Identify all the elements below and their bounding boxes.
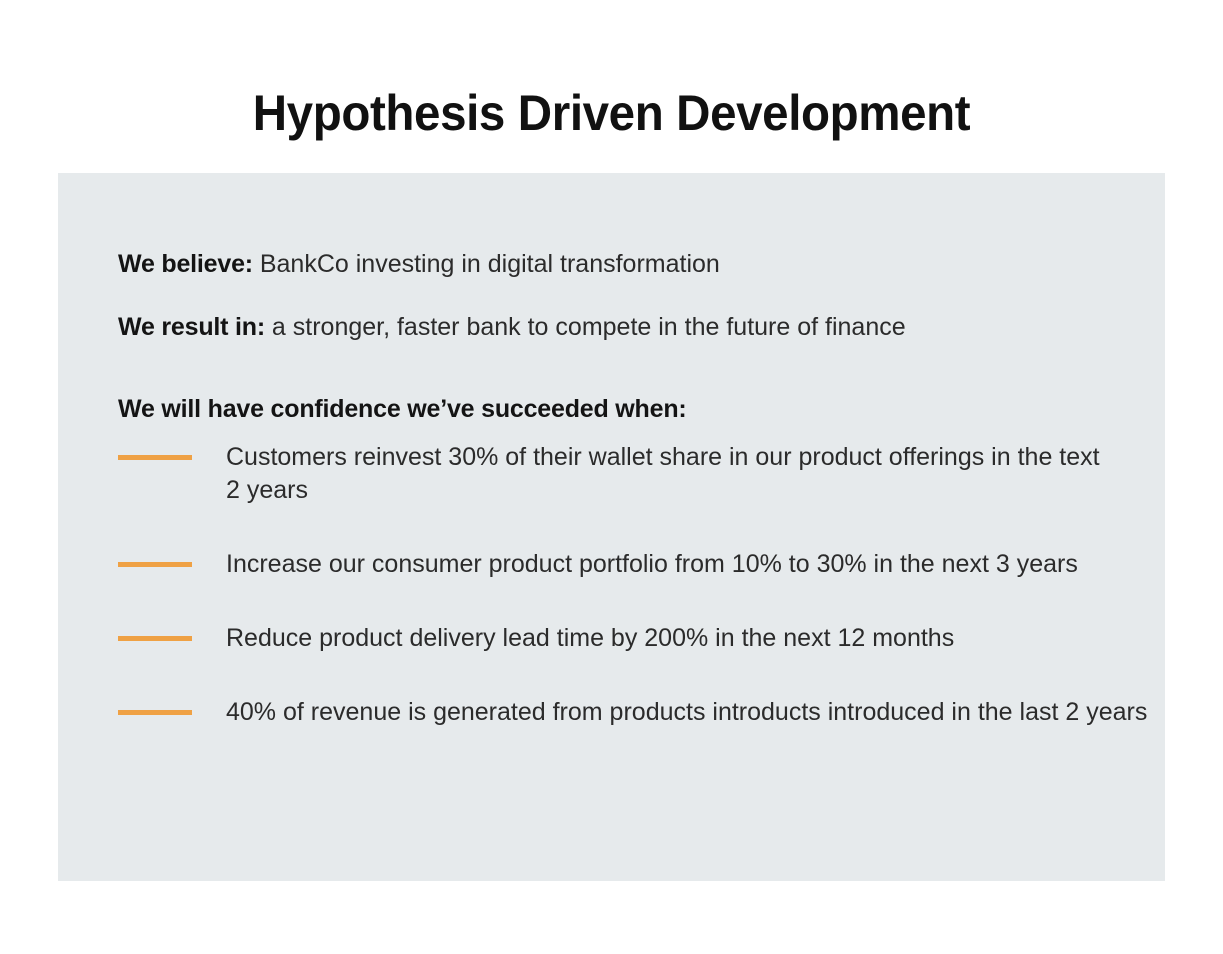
confidence-heading: We will have confidence we’ve succeeded … [118, 397, 687, 422]
list-item: Customers reinvest 30% of their wallet s… [118, 441, 1155, 507]
dash-bullet-icon [118, 455, 192, 460]
statement-we-result-in: We result in: a stronger, faster bank to… [118, 315, 906, 340]
list-item: 40% of revenue is generated from product… [118, 696, 1155, 729]
list-item-text: Reduce product delivery lead time by 200… [226, 622, 1155, 655]
confidence-criteria-list: Customers reinvest 30% of their wallet s… [118, 441, 1155, 729]
dash-bullet-icon [118, 710, 192, 715]
page-title: Hypothesis Driven Development [31, 88, 1193, 138]
statement-we-believe-label: We believe: [118, 250, 253, 278]
statement-we-believe: We believe: BankCo investing in digital … [118, 252, 720, 277]
statement-we-believe-text: BankCo investing in digital transformati… [253, 250, 720, 278]
list-item-text: Increase our consumer product portfolio … [226, 548, 1106, 581]
list-item: Reduce product delivery lead time by 200… [118, 622, 1155, 655]
list-item-text: Customers reinvest 30% of their wallet s… [226, 441, 1106, 507]
statement-we-result-in-label: We result in: [118, 313, 265, 341]
list-item: Increase our consumer product portfolio … [118, 548, 1155, 581]
list-item-text: 40% of revenue is generated from product… [226, 696, 1155, 729]
dash-bullet-icon [118, 562, 192, 567]
dash-bullet-icon [118, 636, 192, 641]
statement-we-result-in-text: a stronger, faster bank to compete in th… [265, 313, 906, 341]
content-panel: We believe: BankCo investing in digital … [58, 173, 1165, 881]
